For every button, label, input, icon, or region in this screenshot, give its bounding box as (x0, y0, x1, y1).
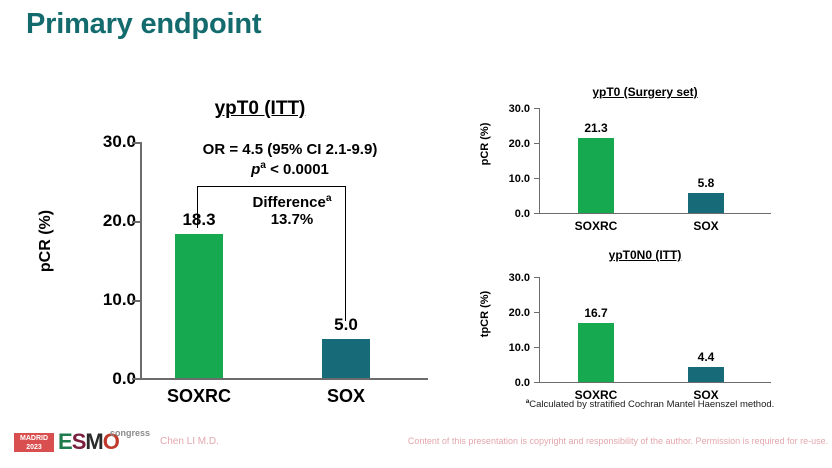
bar-sox-bottom-right[interactable] (688, 367, 724, 382)
y-axis-title-main: pCR (%) (37, 201, 55, 281)
category-label-sox-top-right: SOX (666, 219, 746, 233)
y-tick-0: 0.0 (64, 369, 136, 389)
difference-bracket-top (197, 186, 346, 187)
x-axis-line-top-right (539, 213, 771, 214)
y-tick-tr-10: 10.0 (482, 173, 530, 185)
logo-letter-s: S (72, 429, 86, 454)
bar-value-soxrc-bottom-right: 16.7 (556, 306, 636, 320)
bar-soxrc-top-right[interactable] (578, 138, 614, 213)
category-label-sox-main: SOX (296, 386, 396, 407)
y-axis-line-bottom-right (539, 277, 540, 383)
x-axis-line-bottom-right (539, 382, 771, 383)
bar-value-sox-top-right: 5.8 (666, 176, 746, 190)
logo-city-year-badge: MADRID 2023 (14, 433, 54, 452)
odds-ratio-text: OR = 4.5 (95% CI 2.1-9.9) (160, 141, 420, 158)
p-value: < 0.0001 (266, 161, 329, 178)
y-tick-10: 10.0 (64, 290, 136, 310)
y-tick-tr-20: 20.0 (482, 138, 530, 150)
difference-superscript: a (326, 193, 332, 204)
presenter-name: Chen LI M.D. (160, 436, 219, 447)
bar-value-soxrc-top-right: 21.3 (556, 121, 636, 135)
y-tick-tr-0: 0.0 (482, 208, 530, 220)
y-axis-line-main (140, 142, 142, 380)
bar-soxrc-bottom-right[interactable] (578, 323, 614, 382)
difference-label-text: Difference (252, 194, 325, 211)
chart-ypt0n0-itt: ypT0N0 (ITT) tpCR (%) 30.0 20.0 10.0 0.0… (460, 245, 832, 415)
bar-value-soxrc-main: 18.3 (159, 210, 239, 230)
y-tick-tr-30: 30.0 (482, 103, 530, 115)
y-tick-br-20: 20.0 (482, 307, 530, 319)
p-italic: p (251, 161, 260, 178)
chart-ypt0-surgery-set: ypT0 (Surgery set) pCR (%) 30.0 20.0 10.… (460, 80, 832, 250)
footnote-text: Calculated by stratified Cochran Mantel … (529, 399, 774, 410)
slide: Primary endpoint ypT0 (ITT) pCR (%) 30.0… (0, 0, 832, 468)
chart-title-top-right: ypT0 (Surgery set) (520, 85, 770, 99)
bar-sox-top-right[interactable] (688, 193, 724, 213)
y-tick-br-30: 30.0 (482, 272, 530, 284)
logo-letter-m: M (85, 429, 102, 454)
chart-ypt0-itt: ypT0 (ITT) pCR (%) 30.0 20.0 10.0 0.0 OR… (0, 0, 460, 420)
y-tick-30: 30.0 (64, 132, 136, 152)
chart-title-main: ypT0 (ITT) (120, 98, 400, 120)
y-tick-br-10: 10.0 (482, 342, 530, 354)
bar-value-sox-bottom-right: 4.4 (666, 350, 746, 364)
bar-value-sox-main: 5.0 (306, 315, 386, 335)
bar-sox-main[interactable] (322, 339, 370, 378)
category-label-soxrc-main: SOXRC (149, 386, 249, 407)
copyright-notice: Content of this presentation is copyrigh… (404, 436, 832, 446)
category-label-soxrc-top-right: SOXRC (556, 219, 636, 233)
x-axis-line-main (140, 378, 428, 380)
p-value-text: pa < 0.0001 (160, 160, 420, 178)
logo-congress-text: congress (110, 428, 150, 438)
logo-letter-e: E (58, 429, 72, 454)
esmo-congress-logo: MADRID 2023 ESMO congress (14, 428, 146, 458)
chart-title-bottom-right: ypT0N0 (ITT) (520, 248, 770, 262)
logo-city: MADRID (14, 434, 54, 443)
y-tick-br-0: 0.0 (482, 377, 530, 389)
logo-year: 2023 (14, 443, 54, 452)
y-axis-line-top-right (539, 108, 540, 214)
bar-soxrc-main[interactable] (175, 234, 223, 378)
footnote: aCalculated by stratified Cochran Mantel… (470, 398, 830, 410)
y-tick-20: 20.0 (64, 211, 136, 231)
difference-label: Differencea (212, 193, 372, 211)
